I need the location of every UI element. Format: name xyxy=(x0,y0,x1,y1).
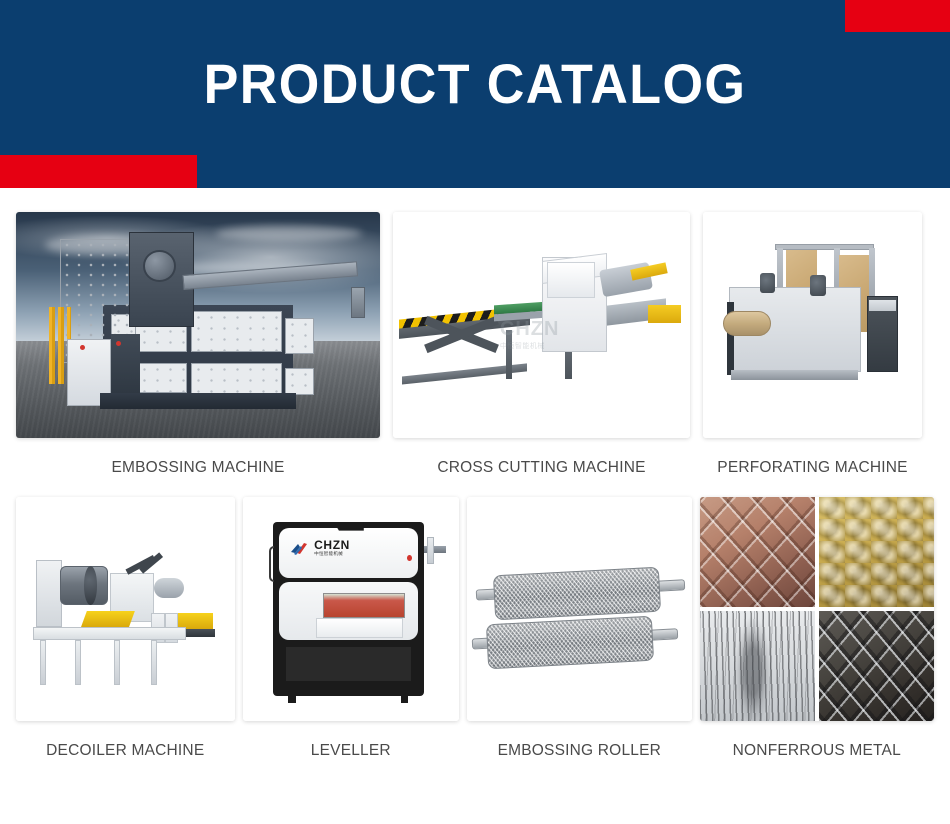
perforating-machine-photo[interactable] xyxy=(703,212,922,438)
cross-cutting-machine-scene: CHZN 中恒智能机械 xyxy=(393,212,690,438)
cutting-unit-hood xyxy=(547,262,595,298)
dark-steel-checker-plate-swatch xyxy=(819,611,934,721)
product-card-leveller[interactable]: CHZN 中恒智能机械 LEVELLE xyxy=(243,497,460,760)
motor-unit xyxy=(810,275,825,295)
header-accent-bottom-left xyxy=(0,155,197,188)
silver-wood-grain-swatch xyxy=(700,611,815,721)
product-card-nonferrous-metal[interactable]: NONFERROUS METAL xyxy=(700,497,934,760)
machine-foot xyxy=(288,687,296,703)
brand-text: CHZN xyxy=(314,538,350,552)
machine-panel xyxy=(285,368,314,395)
nonferrous-metal-textures[interactable] xyxy=(700,497,934,721)
cabinet-control-panel xyxy=(869,300,895,311)
cloud-shape xyxy=(216,226,362,242)
brand-logo: CHZN 中恒智能机械 xyxy=(290,540,350,557)
gold-hammered-swatch xyxy=(819,497,934,607)
gauge-dial xyxy=(143,250,176,282)
machine-base xyxy=(731,370,858,380)
frame-leg xyxy=(40,640,46,685)
watermark-logo: CHZN 中恒智能机械 xyxy=(500,318,560,351)
embossing-machine-scene xyxy=(16,212,380,438)
header-accent-top-right xyxy=(845,0,950,32)
product-label: LEVELLER xyxy=(243,742,460,760)
catalog-row-2: DECOILER MACHINE xyxy=(0,477,950,760)
product-label: NONFERROUS METAL xyxy=(700,742,934,760)
motor-unit xyxy=(760,273,775,293)
cross-cutting-machine-photo[interactable]: CHZN 中恒智能机械 xyxy=(393,212,690,438)
chzn-logo-icon xyxy=(290,541,310,556)
machine-foot xyxy=(401,687,409,703)
product-card-perforating-machine[interactable]: PERFORATING MACHINE xyxy=(703,212,922,477)
copper-diamond-plate-swatch xyxy=(700,497,815,607)
watermark-subtext: 中恒智能机械 xyxy=(500,341,560,351)
base-frame xyxy=(33,627,186,640)
embossing-machine-photo[interactable] xyxy=(16,212,380,438)
page-header: PRODUCT CATALOG xyxy=(0,0,950,188)
straightener-roller xyxy=(154,578,185,598)
product-card-cross-cutting-machine[interactable]: CHZN 中恒智能机械 CROSS CUTTING MACHINE xyxy=(393,212,690,477)
product-label: PERFORATING MACHINE xyxy=(703,459,922,477)
frame-leg xyxy=(151,640,157,685)
product-label: DECOILER MACHINE xyxy=(16,742,235,760)
decoiler-head-unit xyxy=(36,560,62,627)
roller-shaft xyxy=(649,628,679,641)
knurled-roller xyxy=(486,616,654,669)
watermark-text: CHZN xyxy=(500,318,560,340)
product-card-embossing-roller[interactable]: EMBOSSING ROLLER xyxy=(467,497,692,760)
machine-base-inner xyxy=(286,647,412,681)
leveller-scene: CHZN 中恒智能机械 xyxy=(243,497,460,721)
machine-panel xyxy=(191,363,282,395)
machine-panel xyxy=(191,311,282,352)
paper-roll xyxy=(723,311,771,336)
roller-window xyxy=(323,593,405,618)
decoiler-machine-scene xyxy=(16,497,235,721)
product-label: CROSS CUTTING MACHINE xyxy=(393,459,690,477)
yellow-guard xyxy=(648,305,681,323)
transfer-arm-end xyxy=(351,287,366,319)
frame-leg xyxy=(114,640,120,685)
product-catalog: EMBOSSING MACHINE xyxy=(0,188,950,760)
knurled-roller xyxy=(493,567,661,620)
side-handle xyxy=(269,546,274,582)
machine-base xyxy=(100,393,297,409)
embossing-roller-photo[interactable] xyxy=(467,497,692,721)
product-card-embossing-machine[interactable]: EMBOSSING MACHINE xyxy=(16,212,380,477)
indicator-light xyxy=(407,555,412,561)
drive-shaft-plate xyxy=(427,537,435,564)
output-tray xyxy=(316,618,403,638)
emergency-stop-button xyxy=(116,341,121,346)
perforating-machine-scene xyxy=(703,212,922,438)
page-title: PRODUCT CATALOG xyxy=(33,48,917,120)
texture-grid xyxy=(700,497,934,721)
mandrel-face xyxy=(84,566,97,604)
embossing-roller-scene xyxy=(467,497,692,721)
frame-leg xyxy=(75,640,81,685)
product-label: EMBOSSING ROLLER xyxy=(467,742,692,760)
overhead-frame xyxy=(775,244,874,251)
leveller-photo[interactable]: CHZN 中恒智能机械 xyxy=(243,497,460,721)
brand-name: CHZN 中恒智能机械 xyxy=(314,540,350,557)
decoiler-machine-photo[interactable] xyxy=(16,497,235,721)
yellow-guard xyxy=(81,611,135,627)
catalog-row-1: EMBOSSING MACHINE xyxy=(0,188,950,477)
product-card-decoiler-machine[interactable]: DECOILER MACHINE xyxy=(16,497,235,760)
product-label: EMBOSSING MACHINE xyxy=(16,459,380,477)
machine-panel xyxy=(285,318,314,354)
